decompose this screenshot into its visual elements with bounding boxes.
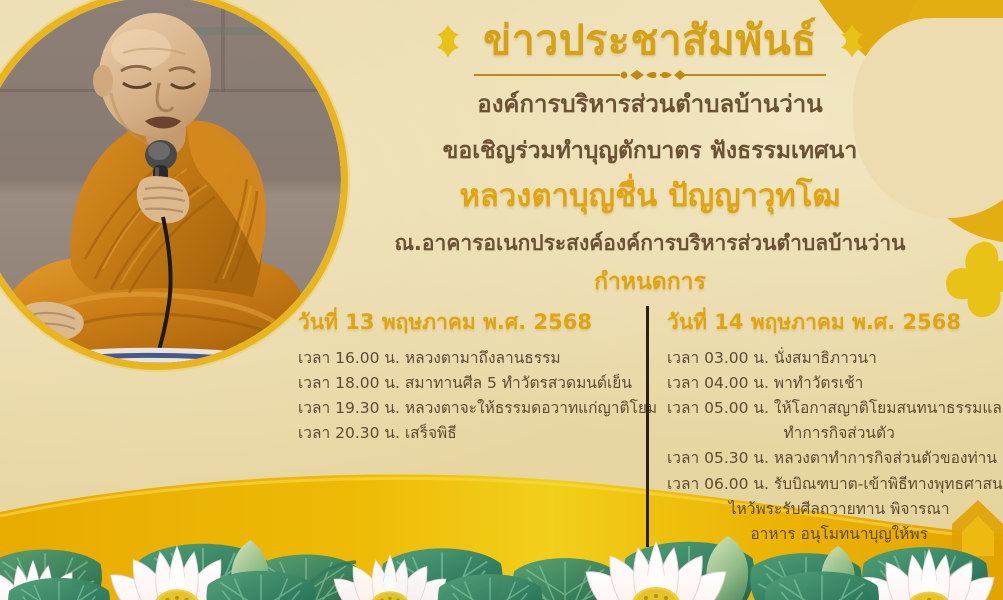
page-title: ข่าวประชาสัมพันธ์ — [483, 18, 817, 64]
photo-inner — [0, 0, 341, 363]
title-row: ข่าวประชาสัมพันธ์ — [330, 18, 970, 64]
gold-quatrefoil-ornament-left-icon — [431, 24, 465, 58]
list-item: เวลา 18.00 น. สมาทานศีล 5 ทำวัตรสวดมนต์เ… — [298, 371, 630, 396]
list-item: เวลา 05.00 น. ให้โอกาสญาติโยมสนทนาธรรมแล… — [667, 396, 1003, 421]
list-item: เวลา 06.00 น. รับบิณฑบาต-เข้าพิธีทางพุทธ… — [667, 472, 1003, 497]
gold-quatrefoil-ornament-right-icon — [835, 24, 869, 58]
list-item-continuation: อาหาร อนุโมทนาบุญให้พร — [667, 522, 1003, 547]
poster-header: ข่าวประชาสัมพันธ์ องค์การบริหารส่วนตำบลบ… — [330, 18, 970, 298]
list-item: เวลา 03.00 น. นั่งสมาธิภาวนา — [667, 346, 1003, 371]
decorative-divider-rule-icon — [470, 67, 830, 81]
day2-heading: วันที่ 14 พฤษภาคม พ.ศ. 2568 — [667, 306, 1003, 339]
schedule-column-day1: วันที่ 13 พฤษภาคม พ.ศ. 2568 เวลา 16.00 น… — [298, 306, 646, 547]
schedule-column-day2: วันที่ 14 พฤษภาคม พ.ศ. 2568 เวลา 03.00 น… — [646, 306, 1003, 547]
monk-name: หลวงตาบุญชื่น ปัญญาวุทโฒ — [330, 174, 970, 219]
monk-portrait-photo — [0, 0, 348, 370]
schedule-section: วันที่ 13 พฤษภาคม พ.ศ. 2568 เวลา 16.00 น… — [298, 306, 985, 547]
list-item-continuation: ไหว้พระรับศีลถวายทาน พิจารณา — [667, 497, 1003, 522]
list-item: เวลา 16.00 น. หลวงตามาถึงลานธรรม — [298, 346, 630, 371]
list-item: เวลา 04.00 น. พาทำวัตรเช้า — [667, 371, 1003, 396]
list-item: เวลา 05.30 น. หลวงตาทำการกิจส่วนตัวของท่… — [667, 446, 1003, 471]
list-item-continuation: ทำการกิจส่วนตัว — [667, 421, 1003, 446]
organization-name: องค์การบริหารส่วนตำบลบ้านว่าน — [330, 87, 970, 122]
day1-heading: วันที่ 13 พฤษภาคม พ.ศ. 2568 — [298, 306, 630, 339]
list-item: เวลา 19.30 น. หลวงตาจะให้ธรรมดอวาทแก่ญาต… — [298, 396, 630, 421]
invitation-line: ขอเชิญร่วมทำบุญตักบาตร ฟังธรรมเทศนา — [330, 134, 970, 169]
list-item: เวลา 20.30 น. เสร็จพิธี — [298, 421, 630, 446]
announcement-poster: ข่าวประชาสัมพันธ์ องค์การบริหารส่วนตำบลบ… — [0, 0, 1003, 600]
venue-line: ณ.อาคารอเนกประสงค์องค์การบริหารส่วนตำบลบ… — [330, 228, 970, 260]
agenda-heading: กำหนดการ — [330, 266, 970, 298]
